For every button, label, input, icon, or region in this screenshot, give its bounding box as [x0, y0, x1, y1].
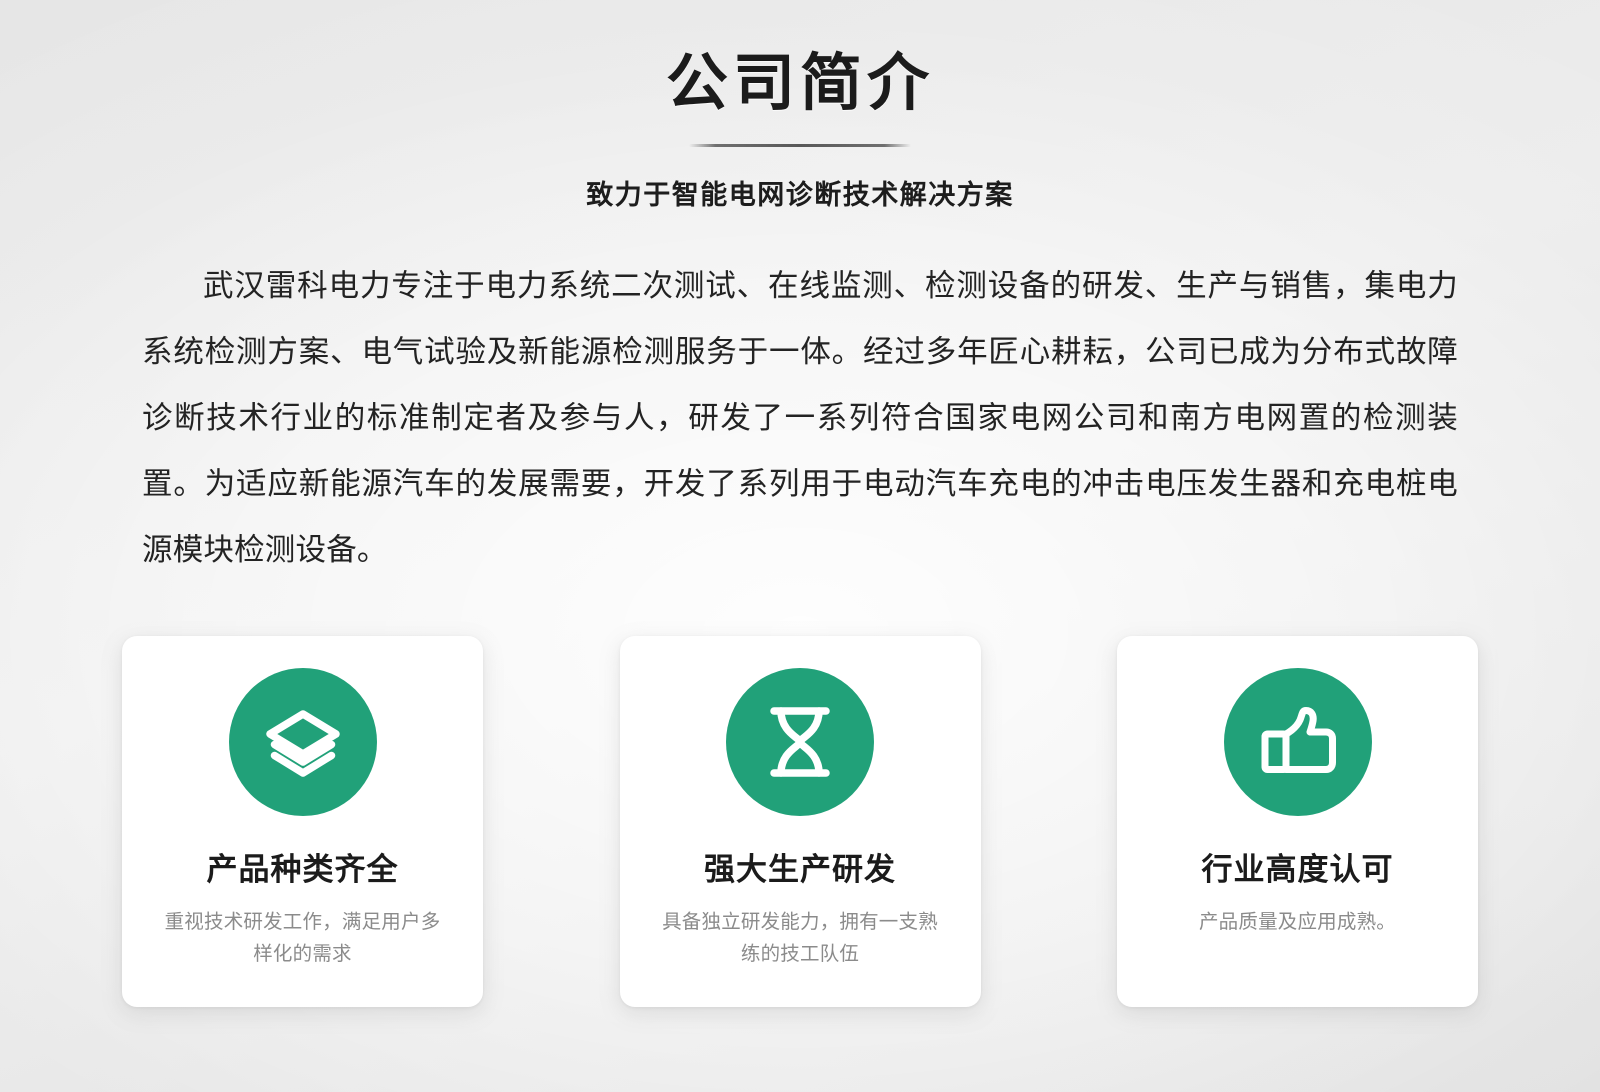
feature-card-description: 具备独立研发能力，拥有一支熟练的技工队伍 — [654, 906, 946, 970]
layers-icon — [229, 668, 377, 816]
feature-card-description: 产品质量及应用成熟。 — [1152, 906, 1444, 938]
feature-card-title: 强大生产研发 — [704, 844, 896, 889]
page-title: 公司简介 — [0, 46, 1600, 119]
feature-card-product-variety[interactable]: 产品种类齐全 重视技术研发工作，满足用户多样化的需求 — [122, 636, 483, 1007]
feature-card-title: 行业高度认可 — [1202, 844, 1394, 889]
page-header: 公司简介 致力于智能电网诊断技术解决方案 — [0, 0, 1600, 212]
thumbs-up-icon — [1224, 668, 1372, 816]
feature-card-list: 产品种类齐全 重视技术研发工作，满足用户多样化的需求 强大生产研发 具备独立研发… — [122, 636, 1478, 1007]
feature-card-title: 产品种类齐全 — [207, 844, 399, 889]
hourglass-icon — [726, 668, 874, 816]
company-intro-page: 公司简介 致力于智能电网诊断技术解决方案 武汉雷科电力专注于电力系统二次测试、在… — [0, 0, 1600, 1092]
intro-section: 武汉雷科电力专注于电力系统二次测试、在线监测、检测设备的研发、生产与销售，集电力… — [142, 254, 1458, 584]
page-subtitle: 致力于智能电网诊断技术解决方案 — [0, 173, 1600, 212]
feature-card-description: 重视技术研发工作，满足用户多样化的需求 — [157, 906, 449, 970]
title-divider — [689, 144, 911, 147]
feature-card-production-rd[interactable]: 强大生产研发 具备独立研发能力，拥有一支熟练的技工队伍 — [620, 636, 981, 1007]
intro-paragraph: 武汉雷科电力专注于电力系统二次测试、在线监测、检测设备的研发、生产与销售，集电力… — [142, 254, 1458, 584]
feature-card-industry-recognition[interactable]: 行业高度认可 产品质量及应用成熟。 — [1117, 636, 1478, 1007]
